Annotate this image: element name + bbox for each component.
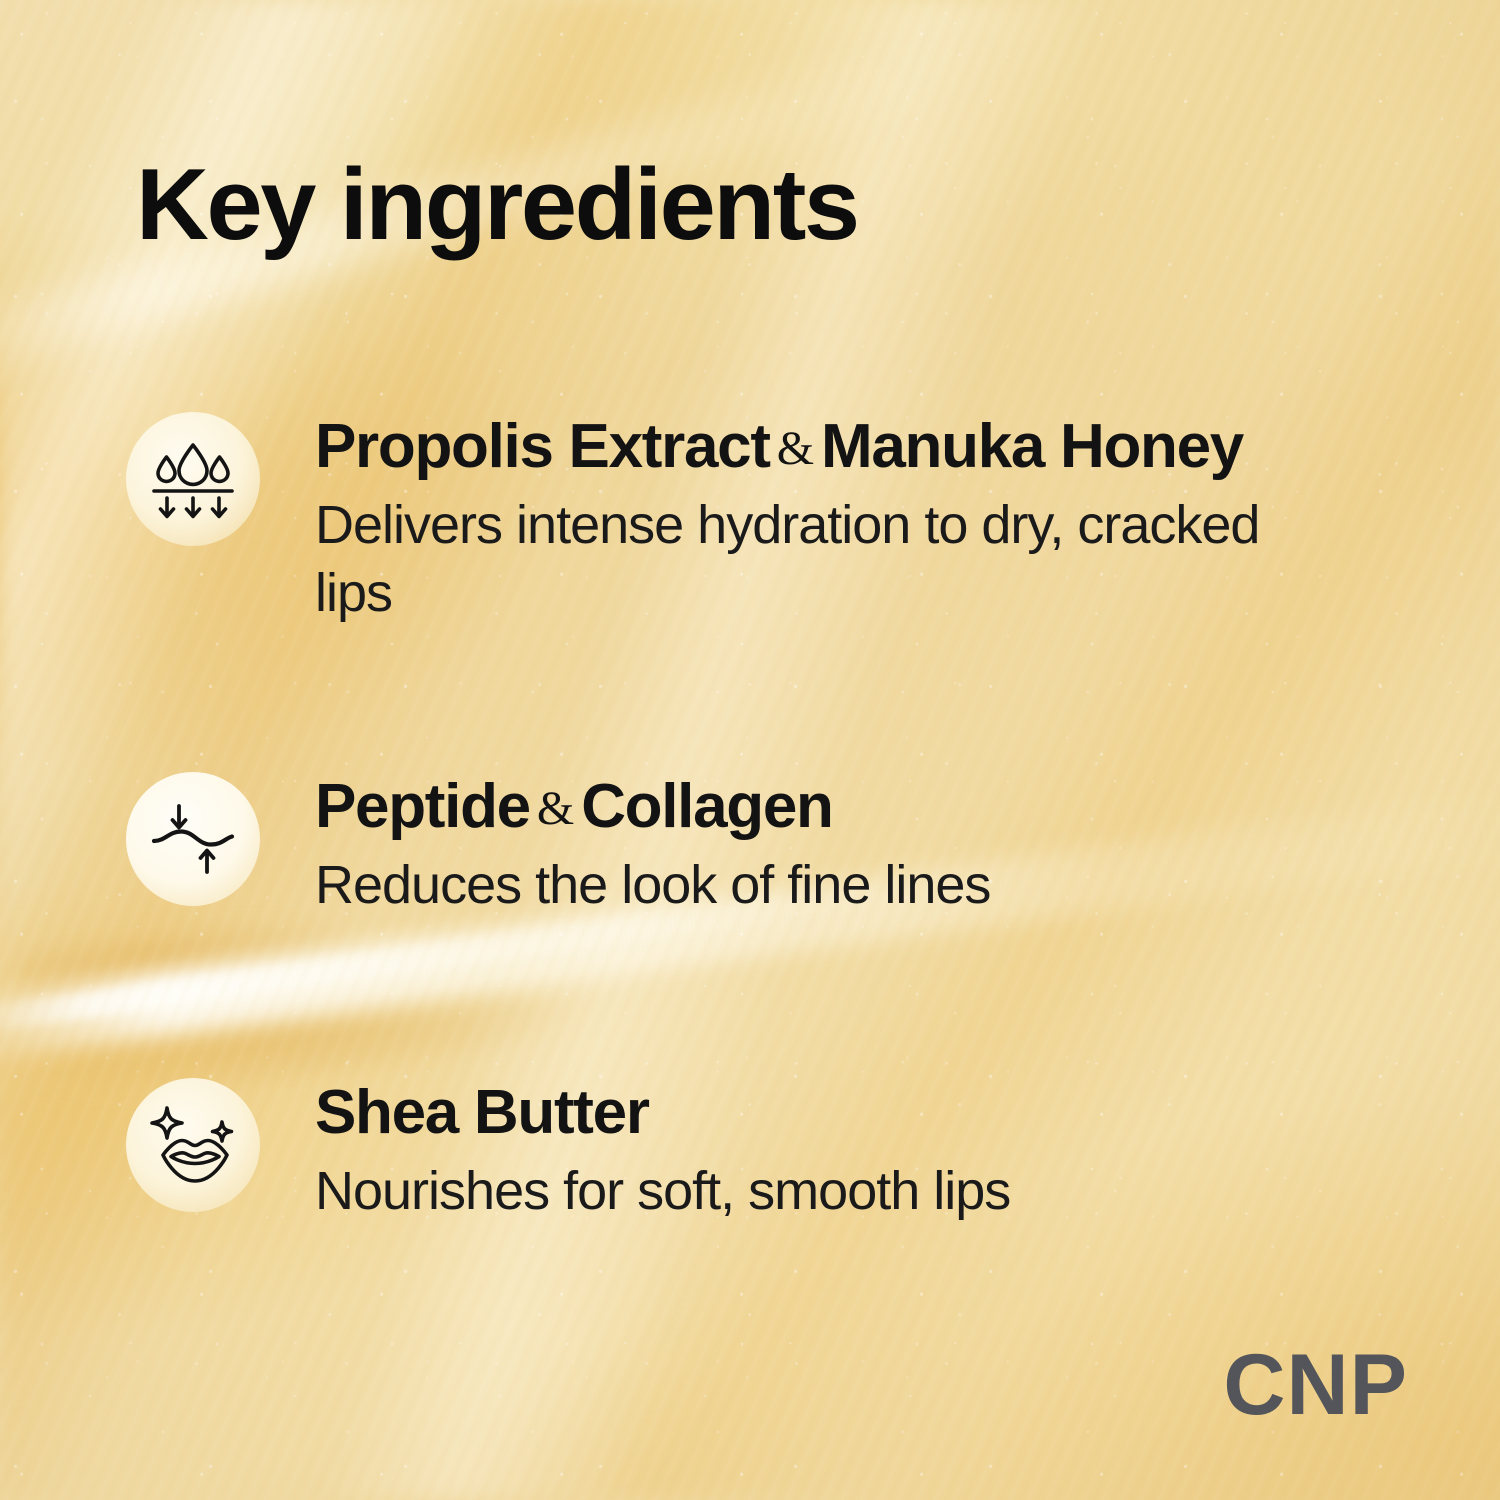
ingredient-title-second: Collagen [581, 772, 832, 841]
ingredient-item: Propolis Extract&Manuka Honey Delivers i… [126, 412, 1315, 627]
ingredient-conjunction [649, 1088, 663, 1141]
ingredient-title: Peptide&Collagen [315, 774, 990, 841]
page-title: Key ingredients [136, 152, 858, 259]
ingredient-icon-badge [126, 1078, 260, 1212]
ingredient-icon-badge [126, 772, 260, 906]
content-container: Key ingredients [0, 0, 1500, 1500]
ingredient-title-main: Propolis Extract [315, 412, 770, 481]
ingredient-icon-badge [126, 412, 260, 546]
ingredient-description: Delivers intense hydration to dry, crack… [315, 491, 1315, 627]
ingredient-description: Reduces the look of fine lines [315, 851, 990, 919]
product-infographic: Key ingredients [0, 0, 1500, 1500]
ingredient-item: Shea Butter Nourishes for soft, smooth l… [126, 1078, 1010, 1225]
ingredient-title-second: Manuka Honey [821, 412, 1243, 481]
ingredient-conjunction: & [770, 422, 821, 475]
smoothing-wave-icon [150, 802, 236, 876]
ingredient-title: Propolis Extract&Manuka Honey [315, 414, 1315, 481]
sparkling-lips-icon [149, 1105, 237, 1185]
ingredient-text-block: Propolis Extract&Manuka Honey Delivers i… [315, 412, 1315, 627]
ingredient-description: Nourishes for soft, smooth lips [315, 1157, 1010, 1225]
ingredient-title: Shea Butter [315, 1080, 1010, 1147]
ingredient-text-block: Peptide&Collagen Reduces the look of fin… [315, 772, 990, 919]
ingredient-item: Peptide&Collagen Reduces the look of fin… [126, 772, 990, 919]
ingredient-text-block: Shea Butter Nourishes for soft, smooth l… [315, 1078, 1010, 1225]
ingredient-title-main: Shea Butter [315, 1078, 649, 1147]
ingredient-title-main: Peptide [315, 772, 530, 841]
brand-logo: CNP [1223, 1342, 1408, 1428]
ingredient-conjunction: & [530, 782, 581, 835]
hydration-droplets-icon [151, 439, 235, 519]
